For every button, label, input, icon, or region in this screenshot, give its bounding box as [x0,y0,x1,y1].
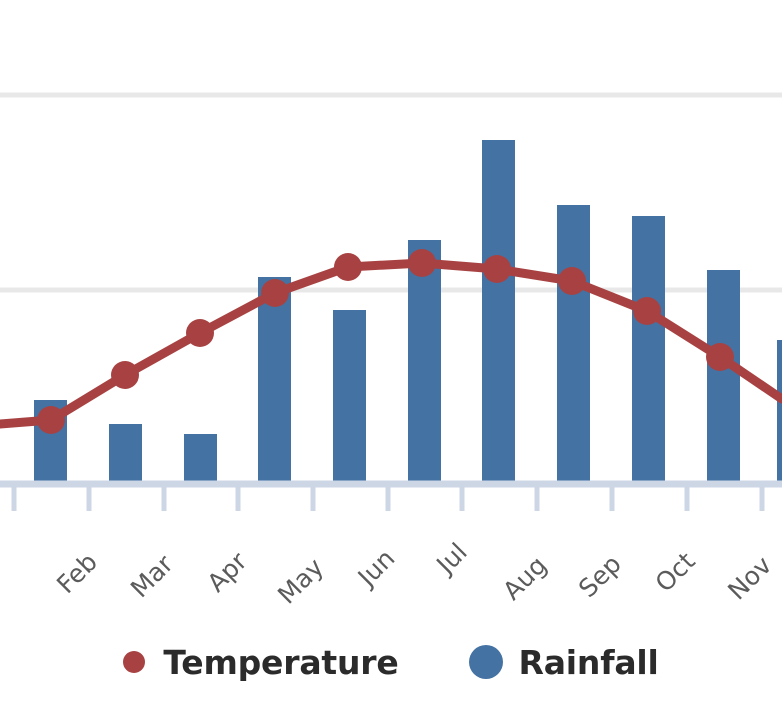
temperature-markers [37,249,734,434]
legend-marker-temperature-icon [123,651,145,673]
bar-series-rainfall [34,140,782,484]
bar-dec[interactable] [777,340,782,484]
temperature-point-feb[interactable] [37,406,65,434]
legend-item-temperature[interactable]: Temperature [123,643,398,682]
bar-oct[interactable] [632,216,665,484]
legend-label-temperature: Temperature [163,643,398,682]
bar-may[interactable] [258,277,291,484]
temperature-point-apr[interactable] [186,319,214,347]
temperature-point-oct[interactable] [633,297,661,325]
bar-apr[interactable] [184,434,217,484]
bar-mar[interactable] [109,424,142,484]
temperature-point-jul[interactable] [408,249,436,277]
legend-label-rainfall: Rainfall [519,643,659,682]
x-axis [0,484,782,511]
chart-container: FebMarAprMayJunJulAugSepOctNovDec Temper… [0,0,782,716]
chart-legend: Temperature Rainfall [0,622,782,702]
legend-marker-rainfall-icon [469,645,503,679]
temperature-point-sep[interactable] [558,267,586,295]
bar-jun[interactable] [333,310,366,484]
x-axis-ticks [14,486,762,511]
temperature-point-aug[interactable] [483,255,511,283]
bar-nov[interactable] [707,270,740,484]
chart-canvas [0,0,782,716]
temperature-point-nov[interactable] [706,343,734,371]
temperature-point-may[interactable] [261,279,289,307]
bar-aug[interactable] [482,140,515,484]
legend-item-rainfall[interactable]: Rainfall [469,643,659,682]
temperature-point-mar[interactable] [111,361,139,389]
temperature-point-jun[interactable] [334,253,362,281]
bar-sep[interactable] [557,205,590,484]
